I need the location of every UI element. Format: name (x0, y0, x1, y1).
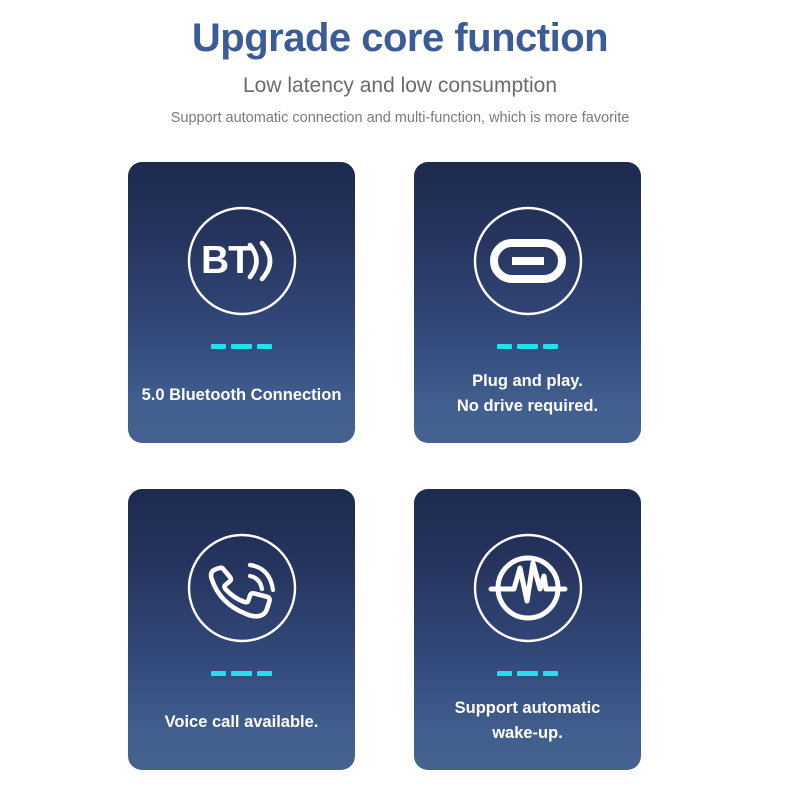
accent-dash (543, 671, 558, 676)
accent-dash (497, 344, 512, 349)
accent-dashes (497, 344, 558, 349)
phone-call-icon (186, 532, 298, 644)
feature-card-label-line1: Plug and play. (472, 372, 583, 390)
accent-dash (497, 671, 512, 676)
feature-card-label: Support automatic wake-up. (422, 696, 633, 747)
page-subtitle: Low latency and low consumption (0, 74, 800, 97)
feature-card-label-line1: Support automatic (455, 699, 601, 717)
promo-page: Upgrade core function Low latency and lo… (0, 0, 800, 800)
accent-dashes (211, 671, 272, 676)
feature-card-label: Voice call available. (136, 710, 347, 736)
chain-link-icon (472, 205, 584, 317)
feature-card-label: Plug and play. No drive required. (422, 369, 633, 420)
feature-card-auto-wakeup[interactable]: Support automatic wake-up. (414, 489, 641, 770)
accent-dash (211, 344, 226, 349)
accent-dash (257, 344, 272, 349)
feature-card-bluetooth[interactable]: BT 5.0 Bluetooth Connection (128, 162, 355, 443)
accent-dashes (211, 344, 272, 349)
accent-dash (211, 671, 226, 676)
feature-card-plug-and-play[interactable]: Plug and play. No drive required. (414, 162, 641, 443)
feature-card-label-line1: Voice call available. (165, 713, 319, 731)
feature-card-label-line2: No drive required. (422, 394, 633, 420)
accent-dash (257, 671, 272, 676)
feature-card-voice-call[interactable]: Voice call available. (128, 489, 355, 770)
accent-dash (231, 344, 252, 349)
feature-card-label: 5.0 Bluetooth Connection (136, 383, 347, 409)
accent-dash (517, 671, 538, 676)
svg-text:BT: BT (201, 239, 252, 282)
bluetooth-bt-signal-icon: BT (186, 205, 298, 317)
feature-card-label-line1: 5.0 Bluetooth Connection (142, 386, 342, 404)
accent-dash (543, 344, 558, 349)
header: Upgrade core function Low latency and lo… (0, 0, 800, 127)
feature-card-label-line2: wake-up. (422, 721, 633, 747)
accent-dash (231, 671, 252, 676)
page-title: Upgrade core function (0, 16, 800, 60)
page-tagline: Support automatic connection and multi-f… (0, 111, 800, 127)
accent-dash (517, 344, 538, 349)
feature-card-grid: BT 5.0 Bluetooth Connection (128, 162, 672, 770)
voice-waveform-icon (472, 532, 584, 644)
accent-dashes (497, 671, 558, 676)
